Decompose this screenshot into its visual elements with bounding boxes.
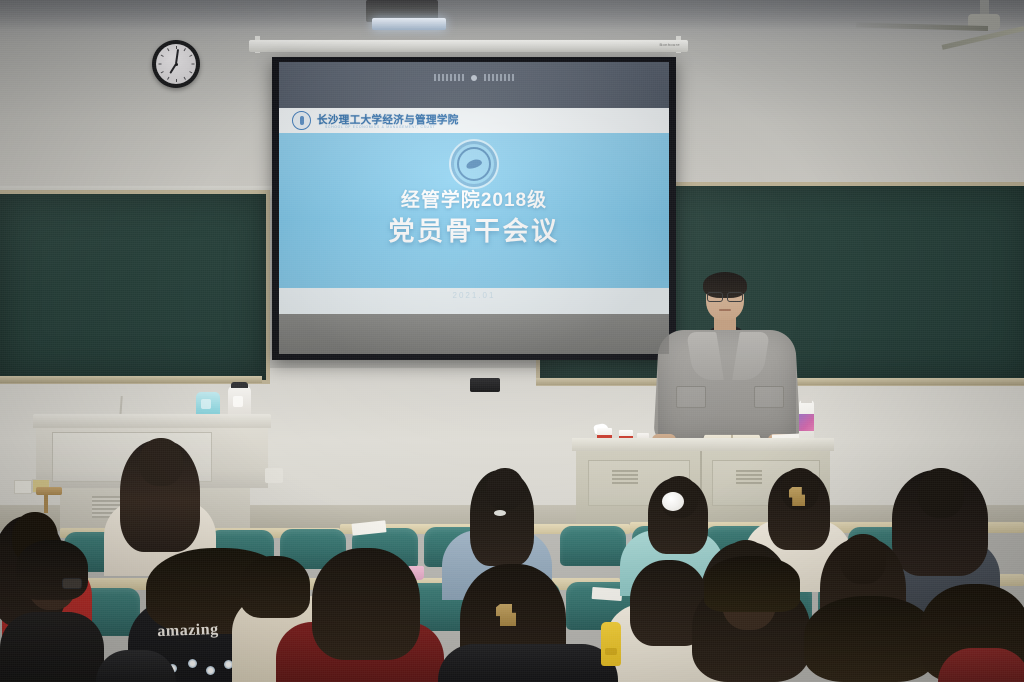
- wall-socket-icon[interactable]: [14, 480, 32, 494]
- slide-title-line1: 经管学院2018级: [279, 185, 669, 212]
- clock-center-pin: [175, 63, 178, 66]
- wall-clock: [152, 40, 200, 88]
- clock-minute-hand: [175, 49, 179, 64]
- stool-leg: [44, 495, 48, 513]
- paper-sheet: [592, 587, 623, 601]
- jacket-text: amazing: [140, 620, 237, 641]
- institution-subtitle: SCHOOL OF ECONOMICS & MANAGEMENT, CSUST: [325, 125, 435, 129]
- slide-header: 长沙理工大学经济与管理学院 SCHOOL OF ECONOMICS & MANA…: [279, 108, 669, 133]
- eyeglasses-icon: [707, 292, 743, 300]
- seat[interactable]: [560, 526, 626, 566]
- slide-title-line2: 党员骨干会议: [279, 211, 669, 248]
- screen-roller-housing[interactable]: Bonhoure: [249, 40, 688, 52]
- podium-vent-icon: [736, 470, 762, 486]
- presenter-eyebrow: [710, 288, 722, 290]
- student-head: [840, 534, 886, 584]
- bottle-cap: [801, 396, 812, 403]
- clock-face: [156, 44, 196, 84]
- chalk-tray-left: [0, 376, 262, 383]
- presenter-pocket: [754, 386, 784, 408]
- bottle-label: [799, 414, 814, 431]
- thermos-lid: [231, 382, 248, 388]
- university-crest-icon: [292, 111, 311, 130]
- thermos-label: [201, 399, 211, 409]
- student-hair: [16, 540, 88, 600]
- school-emblem-icon: [449, 139, 499, 189]
- student-body: [0, 612, 104, 682]
- wooden-stool[interactable]: [36, 487, 62, 495]
- taskbar-menu-block-icon: [434, 74, 464, 81]
- student-hair: [312, 548, 420, 660]
- projection-screen[interactable]: 长沙理工大学经济与管理学院 SCHOOL OF ECONOMICS & MANA…: [272, 57, 676, 360]
- presenter-eyebrow: [731, 288, 743, 290]
- white-scrunchie: [662, 492, 684, 511]
- podium-vent-icon: [612, 470, 638, 486]
- slide-date-text: 2021.01: [279, 291, 669, 300]
- taskbar-items: [434, 74, 514, 81]
- presenter-mouth: [719, 309, 731, 311]
- screen-shadow-band: [279, 314, 669, 354]
- flower-embroidery-icon: [188, 659, 197, 668]
- eyeglasses-icon: [62, 578, 82, 589]
- thermos-label: [233, 396, 243, 407]
- student-hair: [804, 596, 936, 682]
- presentation-slide: 长沙理工大学经济与管理学院 SCHOOL OF ECONOMICS & MANA…: [279, 108, 669, 314]
- student-head: [918, 468, 964, 518]
- hair-tie: [494, 510, 506, 516]
- student-head: [139, 438, 183, 486]
- student-hair: [704, 556, 800, 612]
- taskbar-menu-block-icon: [484, 74, 514, 81]
- student-hair: [240, 556, 310, 618]
- student-head: [486, 468, 524, 510]
- wall-mounted-box: [265, 468, 283, 483]
- side-cabinet-top: [33, 414, 271, 428]
- taskbar-status-dot-icon: [471, 75, 477, 81]
- yellow-water-bottle[interactable]: [601, 622, 621, 666]
- teacher-podium-top: [572, 438, 834, 451]
- student-body: [438, 644, 618, 682]
- projector-lens-icon: [372, 18, 446, 30]
- flower-embroidery-icon: [206, 666, 215, 675]
- desktop-taskbar[interactable]: [279, 62, 669, 108]
- blackboard-eraser-icon[interactable]: [470, 378, 500, 392]
- slide-body: 经管学院2018级 党员骨干会议: [279, 133, 669, 288]
- screen-brand-label: Bonhoure: [659, 42, 680, 47]
- classroom-scene: Bonhoure 长沙理工大学经济与管理学院 SCHOOL OF ECONOMI…: [0, 0, 1024, 682]
- presenter-pocket: [676, 386, 706, 408]
- screen-surface: 长沙理工大学经济与管理学院 SCHOOL OF ECONOMICS & MANA…: [279, 62, 669, 354]
- chalkboard-left: [0, 190, 270, 384]
